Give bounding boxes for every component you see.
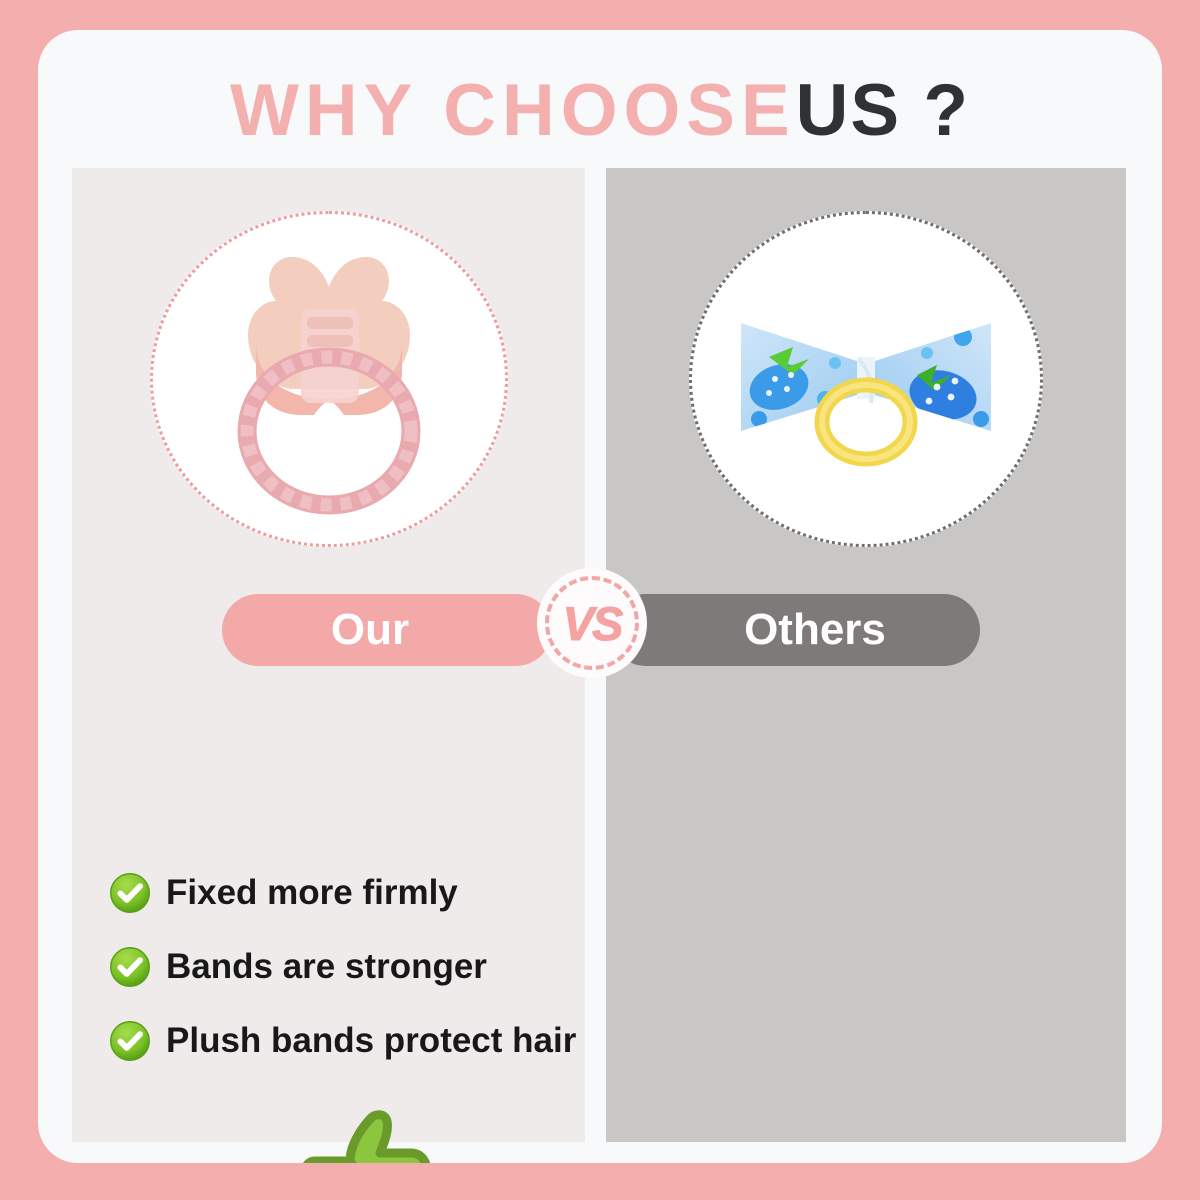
- poster-card: WHY CHOOSEUS ?: [38, 30, 1162, 1163]
- blue-bow-rubber-band-icon: [731, 279, 1001, 479]
- list-item-label: Bands are stronger: [166, 947, 487, 987]
- check-circle-icon: [108, 871, 152, 915]
- list-item-label: Plush bands protect hair: [166, 1021, 576, 1061]
- comparison-poster: WHY CHOOSEUS ?: [0, 0, 1200, 1200]
- our-pill-label: Our: [331, 605, 409, 655]
- others-product-media: [606, 184, 1126, 574]
- others-pill: Others: [610, 594, 980, 666]
- page-title-rest: US ?: [796, 70, 970, 151]
- vs-bar: Our Others VS: [38, 568, 1162, 678]
- our-verdict: [106, 1098, 619, 1163]
- our-product-media: [72, 184, 585, 574]
- page-title: WHY CHOOSEUS ?: [38, 74, 1162, 147]
- list-item: Bands are stronger: [108, 930, 628, 1004]
- list-item-label: Fixed more firmly: [166, 873, 458, 913]
- page-title-highlight: WHY CHOOSE: [230, 70, 796, 151]
- pink-butterfly-hair-tie-icon: [204, 239, 454, 519]
- vs-badge: VS: [537, 568, 647, 678]
- our-pill: Our: [222, 594, 552, 666]
- our-feature-list: Fixed more firmly Bands are stronger: [108, 856, 628, 1078]
- thumbs-up-icon: [287, 1103, 439, 1163]
- check-circle-icon: [108, 1019, 152, 1063]
- vs-badge-label: VS: [563, 596, 622, 651]
- check-circle-icon: [108, 945, 152, 989]
- list-item: Plush bands protect hair: [108, 1004, 628, 1078]
- list-item: Fixed more firmly: [108, 856, 628, 930]
- others-pill-label: Others: [744, 605, 886, 655]
